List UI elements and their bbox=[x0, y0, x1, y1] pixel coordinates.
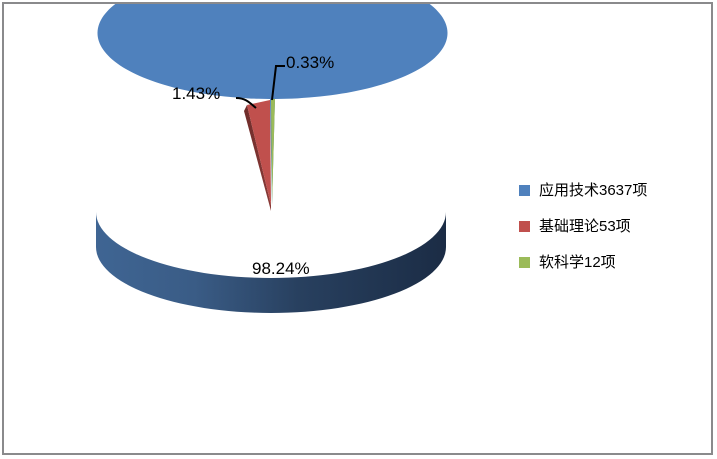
pie-label-basic-theory: 1.43% bbox=[172, 84, 220, 104]
legend-label-basic-theory: 基础理论53项 bbox=[539, 219, 631, 234]
legend-swatch-red-icon bbox=[519, 221, 530, 232]
legend-item-application-technology[interactable]: 应用技术3637项 bbox=[519, 172, 704, 208]
legend-item-soft-science[interactable]: 软科学12项 bbox=[519, 244, 704, 280]
legend-item-basic-theory[interactable]: 基础理论53项 bbox=[519, 208, 704, 244]
legend-swatch-green-icon bbox=[519, 257, 530, 268]
pie-slice-soft-science[interactable] bbox=[271, 99, 275, 205]
pie-label-soft-science: 0.33% bbox=[286, 53, 334, 73]
pie-slice-basic-theory[interactable] bbox=[247, 100, 271, 205]
leader-line-basic-theory bbox=[236, 98, 256, 108]
pie-chart-plot-area[interactable]: 98.24% 1.43% 0.33% 应用技术3637项 基础理论53项 软科学… bbox=[4, 4, 715, 457]
legend-swatch-blue-icon bbox=[519, 185, 530, 196]
legend-label-application-technology: 应用技术3637项 bbox=[539, 183, 647, 198]
chart-frame: 98.24% 1.43% 0.33% 应用技术3637项 基础理论53项 软科学… bbox=[2, 2, 713, 455]
legend-label-soft-science: 软科学12项 bbox=[539, 255, 616, 270]
pie-label-application-technology: 98.24% bbox=[252, 259, 310, 279]
chart-legend: 应用技术3637项 基础理论53项 软科学12项 bbox=[519, 172, 704, 280]
